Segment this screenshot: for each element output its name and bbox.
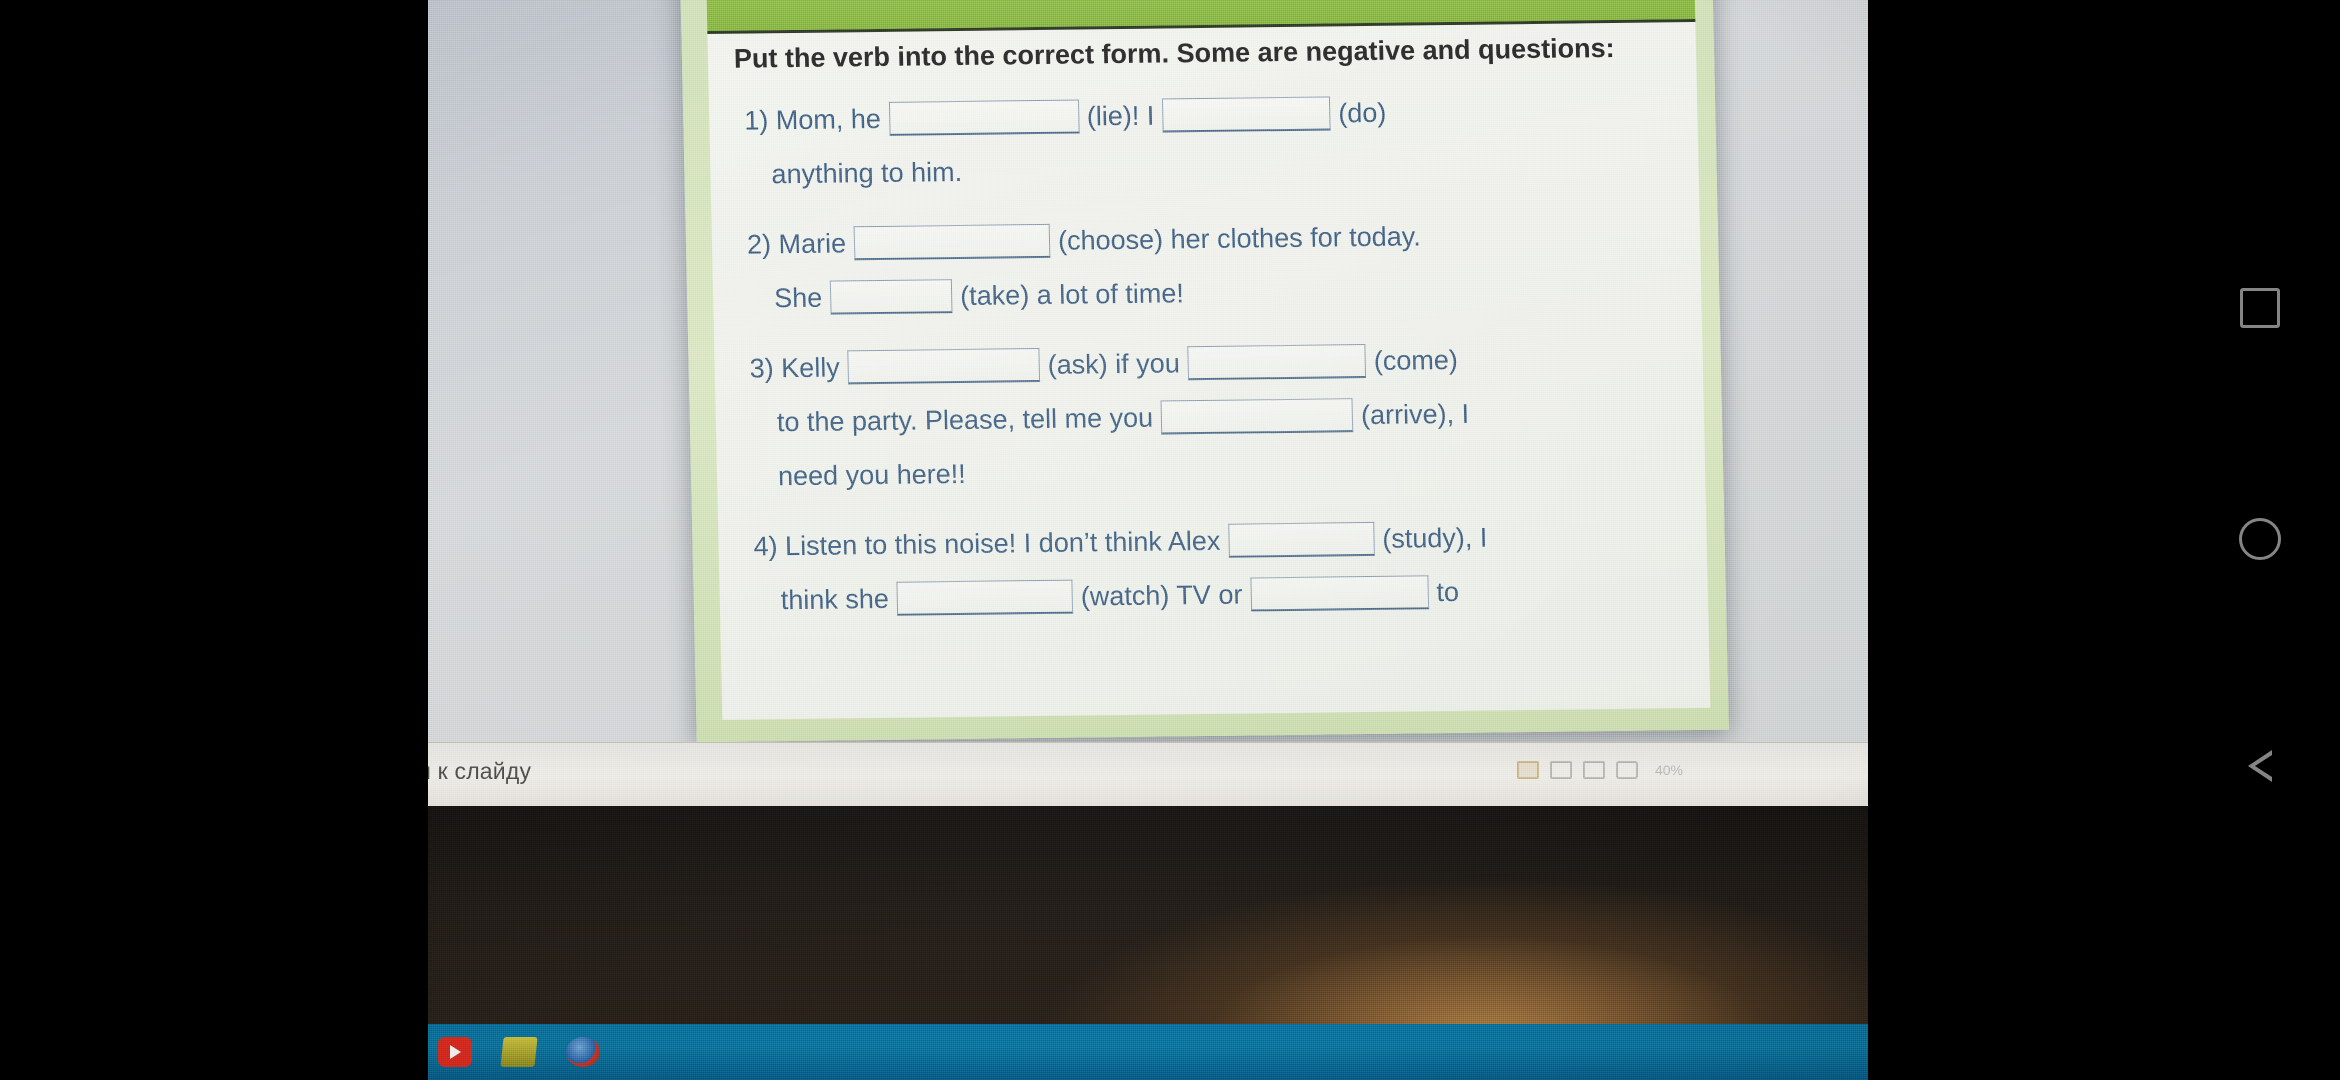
answer-blank[interactable] — [1228, 522, 1375, 558]
exercise-text: (do) — [1333, 99, 1392, 127]
phone-photo-of-monitor: Present Continuous Put the verb into the… — [0, 0, 2340, 1080]
powerpoint-window: Present Continuous Put the verb into the… — [428, 0, 1868, 810]
exercise-text: (take) a lot of time! — [955, 280, 1189, 310]
exercise-text: (arrive), I — [1356, 400, 1475, 428]
answer-blank[interactable] — [1187, 344, 1366, 380]
exercise-item: 2) Marie(choose) her clothes for today.S… — [741, 206, 1691, 326]
reading-view-button[interactable] — [1583, 761, 1605, 779]
exercise-list: 1) Mom, he(lie)! I(do)anything to him.2)… — [739, 82, 1699, 643]
exercise-text: (lie)! I — [1082, 102, 1160, 130]
answer-blank[interactable] — [854, 224, 1051, 260]
youtube-icon[interactable] — [438, 1037, 472, 1067]
exercise-line: She(take) a lot of time! — [743, 260, 1692, 326]
android-navigation-bar[interactable] — [2180, 0, 2340, 1080]
exercise-text: (watch) TV or — [1076, 581, 1248, 610]
view-mode-buttons[interactable]: 40% — [1517, 761, 1683, 779]
exercise-item: 4) Listen to this noise! I don’t think A… — [748, 508, 1698, 628]
browser-icon[interactable] — [566, 1037, 600, 1067]
recents-button[interactable] — [2240, 288, 2280, 328]
slide: Present Continuous Put the verb into the… — [679, 0, 1729, 742]
exercise-line: anything to him. — [740, 136, 1689, 202]
exercise-text: She — [769, 284, 828, 312]
zoom-level-label[interactable]: 40% — [1655, 762, 1683, 778]
back-button[interactable] — [2248, 750, 2272, 782]
exercise-text: 4) Listen to this noise! I don’t think A… — [748, 527, 1225, 560]
slide-canvas[interactable]: Present Continuous Put the verb into the… — [679, 0, 1729, 742]
exercise-item: 3) Kelly(ask) if you(come)to the party. … — [744, 330, 1696, 504]
answer-blank[interactable] — [1162, 96, 1331, 132]
exercise-text: (ask) if you — [1042, 350, 1185, 379]
answer-blank[interactable] — [1250, 575, 1429, 611]
answer-blank[interactable] — [896, 580, 1073, 616]
exercise-text: think she — [775, 585, 894, 613]
powerpoint-status-bar: и к слайду 40% — [428, 742, 1868, 810]
exercise-line: think she(watch) TV orto — [749, 562, 1698, 628]
windows-taskbar[interactable] — [428, 1024, 1868, 1080]
answer-blank[interactable] — [847, 348, 1040, 384]
slide-show-view-button[interactable] — [1616, 761, 1638, 779]
exercise-text: to the party. Please, tell me you — [772, 404, 1159, 436]
exercise-text: 1) Mom, he — [739, 105, 886, 134]
exercise-text: (come) — [1368, 346, 1463, 374]
exercise-text: 2) Marie — [742, 230, 852, 258]
exercise-line: need you here!! — [746, 438, 1695, 504]
slide-content-area: Present Continuous Put the verb into the… — [705, 0, 1710, 720]
monitor-screen: Present Continuous Put the verb into the… — [428, 0, 1868, 1080]
normal-view-button[interactable] — [1517, 761, 1539, 779]
instruction-text: Put the verb into the correct form. Some… — [734, 33, 1615, 75]
home-button[interactable] — [2239, 518, 2281, 560]
answer-blank[interactable] — [888, 100, 1079, 136]
exercise-item: 1) Mom, he(lie)! I(do)anything to him. — [739, 82, 1689, 202]
exercise-text: 3) Kelly — [744, 354, 845, 382]
exercise-text: (study), I — [1377, 524, 1493, 552]
folder-icon[interactable] — [500, 1037, 537, 1067]
notes-placeholder-text: и к слайду — [428, 758, 531, 785]
exercise-text: need you here!! — [773, 460, 971, 489]
exercise-text: (choose) her clothes for today. — [1053, 223, 1426, 255]
exercise-text: to — [1431, 578, 1464, 605]
answer-blank[interactable] — [830, 279, 953, 314]
exercise-text: anything to him. — [766, 158, 967, 187]
answer-blank[interactable] — [1161, 398, 1354, 434]
slide-sorter-view-button[interactable] — [1550, 761, 1572, 779]
slide-title-banner — [705, 0, 1695, 34]
